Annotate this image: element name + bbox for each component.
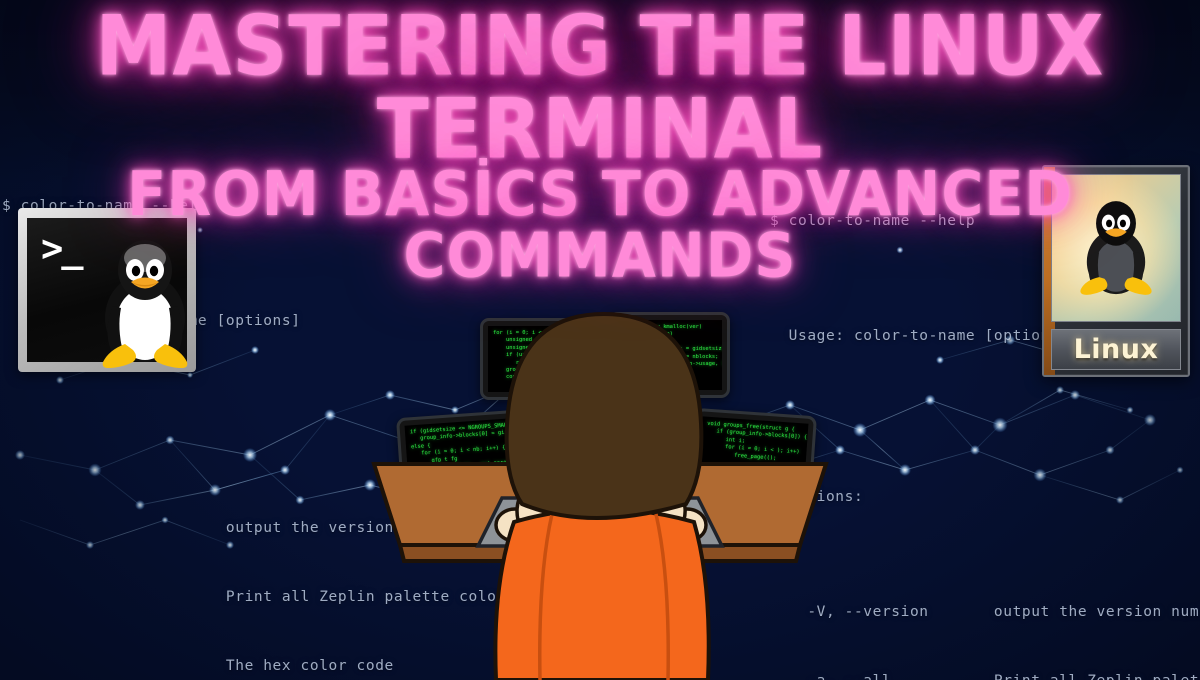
prompt-symbol-icon: >_ [41,234,82,264]
tux-penguin-icon [1073,196,1159,300]
person-at-desk [495,314,708,680]
linux-badge-card: Linux [1042,165,1190,377]
tux-penguin-icon [89,236,201,372]
terminal-app-icon: >_ [18,208,196,372]
poster-canvas: $ color-to-name --help Usage: color-to-n… [0,0,1200,680]
terminal-icon-screen: >_ [27,218,187,362]
linux-card-artwork [1051,174,1181,322]
linux-card-label: Linux [1051,329,1181,370]
workstation-illustration [330,290,870,680]
